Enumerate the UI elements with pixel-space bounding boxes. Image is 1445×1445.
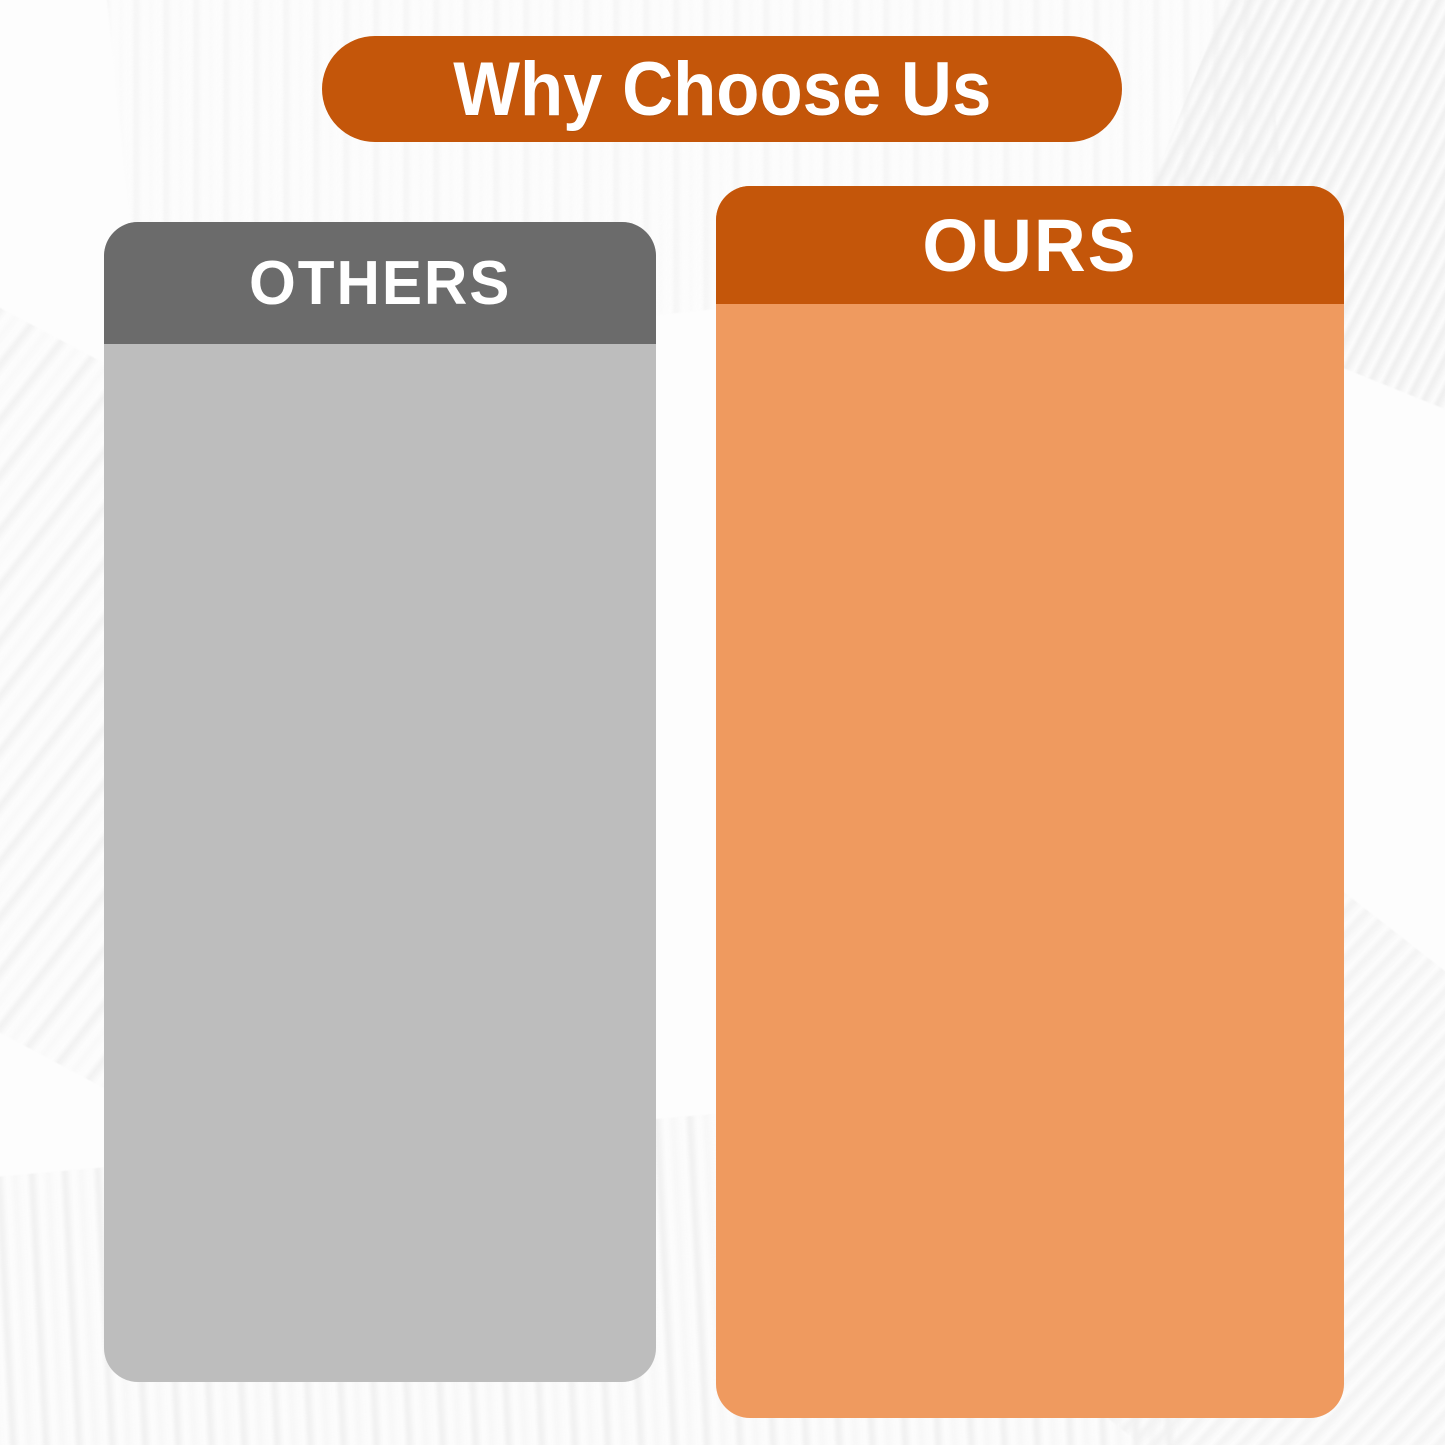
others-column-panel: OTHERS [104, 222, 656, 1382]
ours-header-label: OURS [922, 203, 1137, 288]
page-title-banner: Why Choose Us [322, 36, 1122, 142]
others-header-label: OTHERS [249, 248, 511, 319]
others-header: OTHERS [104, 222, 656, 344]
ours-header: OURS [716, 186, 1344, 304]
ours-column-panel: OURS [716, 186, 1344, 1418]
page-title: Why Choose Us [453, 46, 991, 133]
